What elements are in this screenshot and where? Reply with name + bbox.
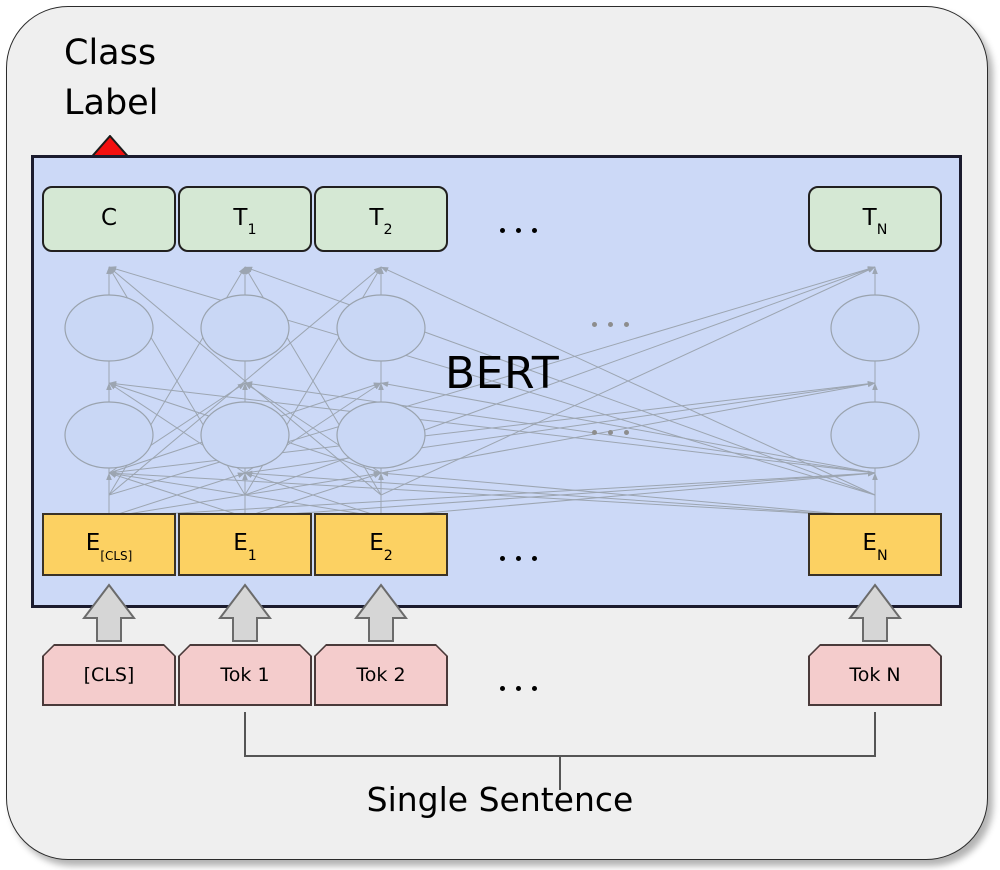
class-label-text: Class Label (64, 28, 304, 128)
embedding-node-cls[interactable]: E[CLS] (42, 513, 176, 576)
single-sentence-caption: Single Sentence (0, 780, 1000, 819)
embedding-node-e1[interactable]: E1 (178, 513, 312, 576)
output-node-t1-label: T1 (233, 205, 256, 234)
token-to-embedding-arrow-n-icon (848, 583, 902, 643)
output-node-t2[interactable]: T2 (314, 186, 448, 252)
token-node-tok1[interactable]: Tok 1 (178, 644, 312, 706)
hidden-row1-ellipsis (592, 322, 629, 327)
embedding-node-cls-label: E[CLS] (86, 530, 132, 559)
output-node-c[interactable]: C (42, 186, 176, 252)
embedding-node-en-label: EN (862, 530, 887, 559)
embedding-node-e1-label: E1 (233, 530, 257, 559)
output-node-t2-label: T2 (369, 205, 392, 234)
bert-model-label: BERT (445, 348, 559, 399)
token-to-embedding-arrow-1-icon (218, 583, 272, 643)
token-node-tokn[interactable]: Tok N (808, 644, 942, 706)
token-node-tok2-label: Tok 2 (316, 646, 447, 705)
output-node-tn[interactable]: TN (808, 186, 942, 252)
output-node-c-label: C (101, 205, 117, 234)
output-row-ellipsis (500, 228, 537, 233)
hidden-row2-ellipsis (592, 430, 629, 435)
output-node-tn-label: TN (863, 205, 888, 234)
token-node-tokn-label: Tok N (810, 646, 941, 705)
token-node-cls-label: [CLS] (44, 646, 175, 705)
output-node-t1[interactable]: T1 (178, 186, 312, 252)
token-node-tok1-label: Tok 1 (180, 646, 311, 705)
embedding-row-ellipsis (500, 556, 537, 561)
token-node-cls[interactable]: [CLS] (42, 644, 176, 706)
diagram-canvas: Class Label (0, 0, 1000, 870)
token-to-embedding-arrow-2-icon (354, 583, 408, 643)
token-to-embedding-arrow-cls-icon (82, 583, 136, 643)
token-node-tok2[interactable]: Tok 2 (314, 644, 448, 706)
embedding-node-en[interactable]: EN (808, 513, 942, 576)
embedding-node-e2-label: E2 (369, 530, 393, 559)
embedding-node-e2[interactable]: E2 (314, 513, 448, 576)
token-row-ellipsis (500, 686, 537, 691)
